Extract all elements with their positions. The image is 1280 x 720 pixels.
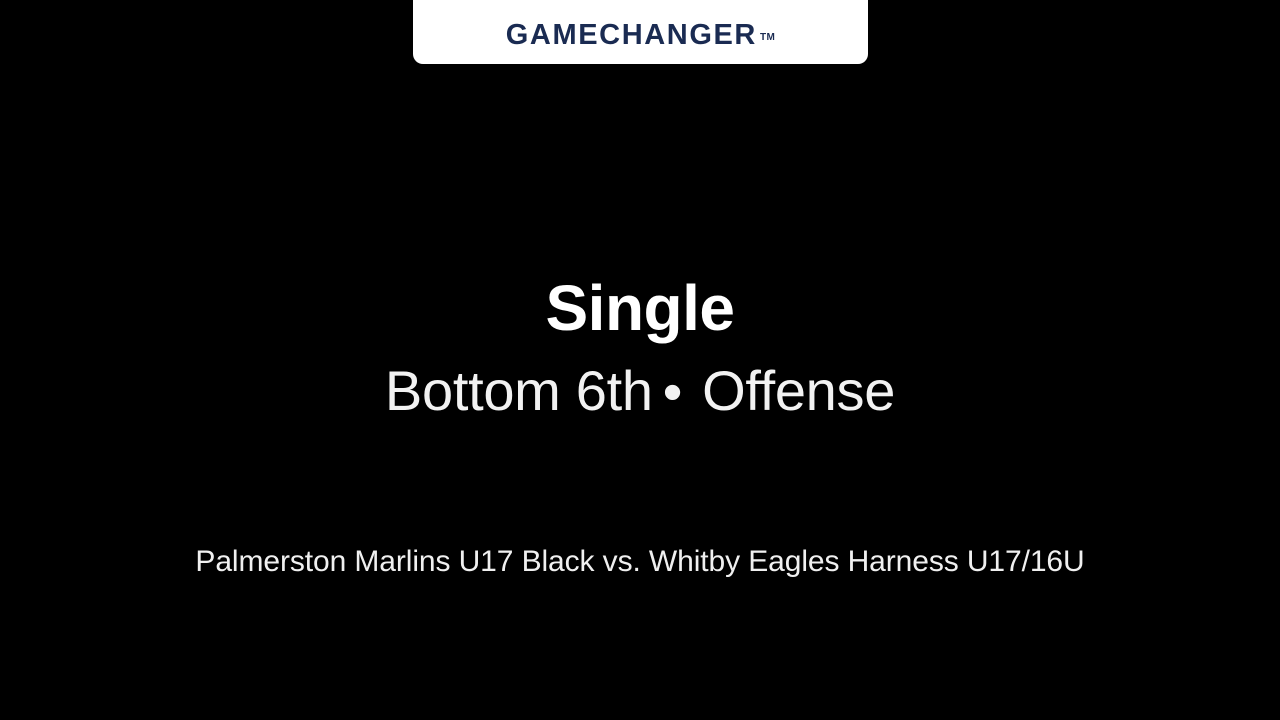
- trademark-symbol: TM: [760, 33, 775, 43]
- brand-lockup: GAMECHANGER TM: [506, 21, 775, 50]
- offense-defense-label: Offense: [702, 359, 895, 422]
- play-situation-line: Bottom 6th•Offense: [0, 358, 1280, 428]
- play-highlight-screen: GAMECHANGER TM Single Bottom 6th•Offense…: [0, 0, 1280, 720]
- gamechanger-brand-panel: GAMECHANGER TM: [413, 0, 868, 64]
- separator-dot-icon: •: [663, 359, 682, 425]
- gamechanger-wordmark: GAMECHANGER: [506, 21, 757, 50]
- play-result-title: Single: [0, 272, 1280, 344]
- inning-label: Bottom 6th: [385, 359, 653, 422]
- matchup-label: Palmerston Marlins U17 Black vs. Whitby …: [0, 543, 1280, 581]
